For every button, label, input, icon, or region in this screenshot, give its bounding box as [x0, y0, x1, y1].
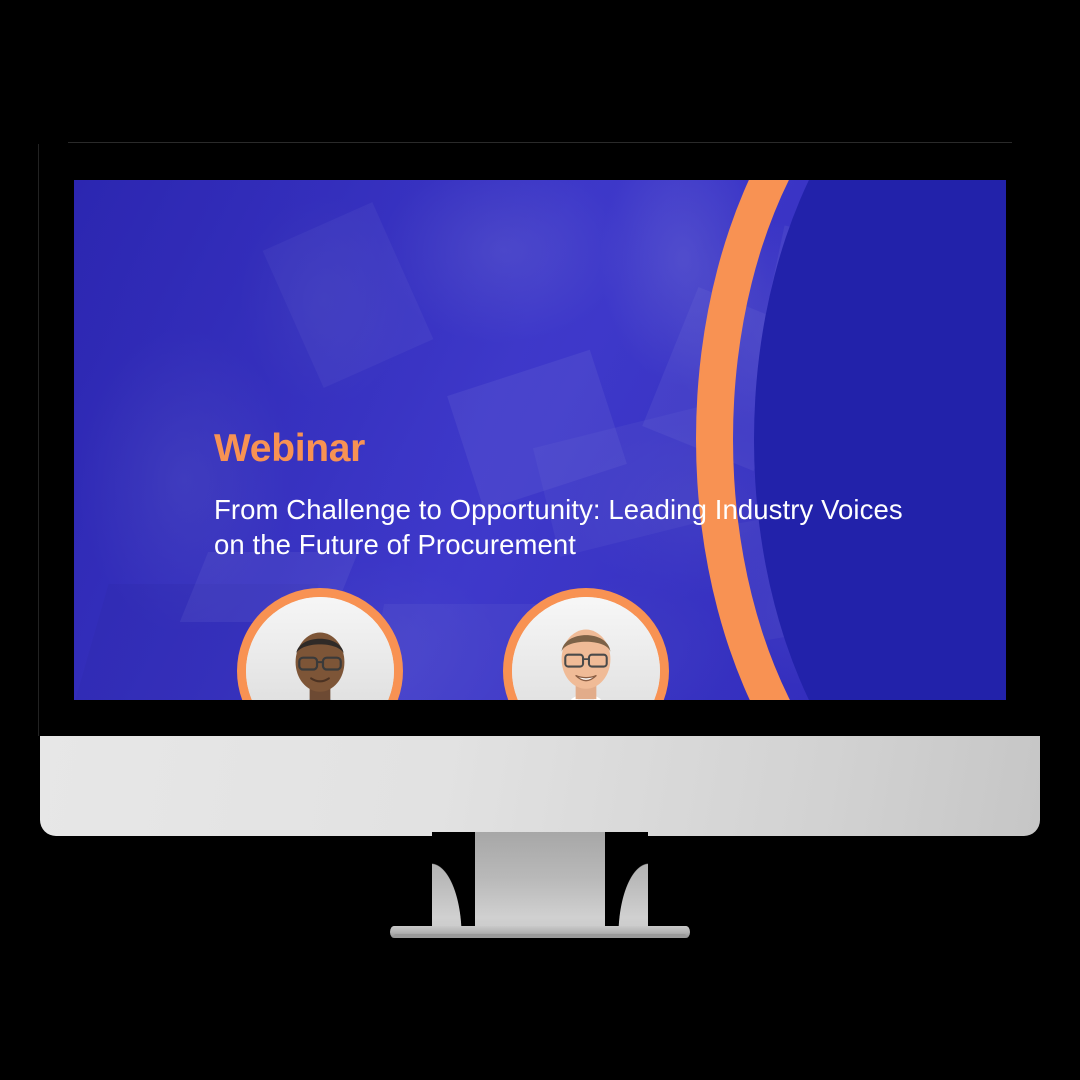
monitor-screen: Webinar From Challenge to Opportunity: L…	[74, 180, 1006, 700]
speaker-list: Pradeep Sriganesh Veriscape CEO	[224, 588, 744, 700]
monitor-stand-base	[390, 926, 690, 938]
speaker-card: Michael Lucas Lead Engineer at Manufactu…	[490, 588, 682, 700]
speaker-card: Pradeep Sriganesh Veriscape CEO	[224, 588, 416, 700]
avatar	[237, 588, 403, 700]
monitor-chin	[40, 736, 1040, 836]
monitor-top-edge	[68, 142, 1012, 143]
monitor-left-edge	[38, 144, 39, 736]
desktop-monitor: Webinar From Challenge to Opportunity: L…	[0, 0, 1080, 1080]
avatar	[503, 588, 669, 700]
slide-kicker: Webinar	[214, 427, 365, 471]
monitor-stand-neck	[432, 832, 648, 936]
slide-headline: From Challenge to Opportunity: Leading I…	[214, 493, 914, 562]
